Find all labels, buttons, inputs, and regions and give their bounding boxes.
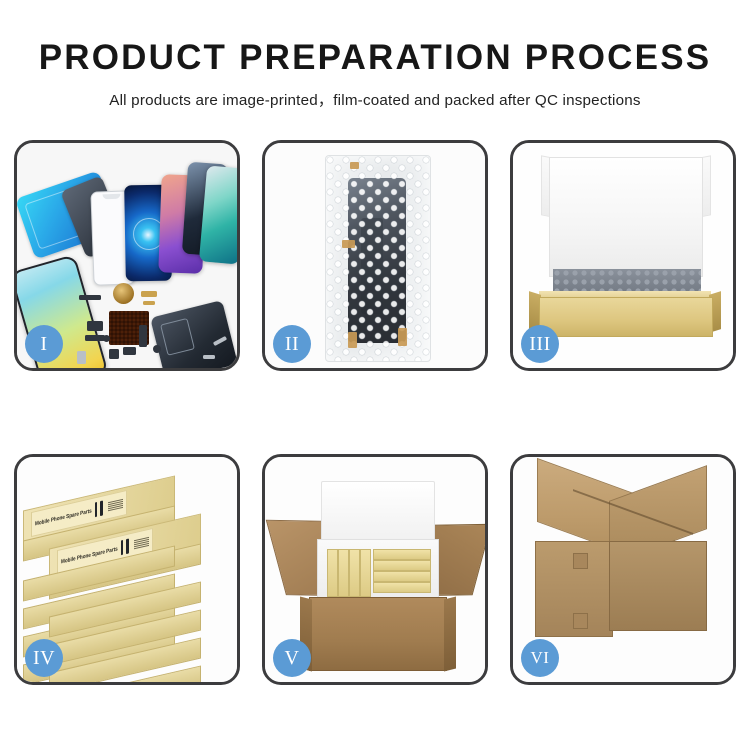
screw-icon	[203, 355, 215, 359]
yellow-box-item	[373, 560, 431, 571]
spec-lines	[108, 499, 123, 511]
component-icon	[77, 351, 86, 364]
yellow-box-item	[327, 549, 338, 597]
bubble-wrap-bag-image: II	[265, 143, 485, 368]
bubble-wrap-bag-icon	[325, 155, 431, 362]
component-icon	[109, 349, 119, 359]
component-icon	[141, 291, 157, 297]
component-icon	[87, 321, 103, 331]
process-step-2: II	[262, 140, 488, 371]
yellow-box-item	[373, 571, 431, 582]
tape-icon	[348, 332, 357, 348]
component-icon	[143, 301, 155, 305]
yellow-box-item	[338, 549, 349, 597]
process-step-6: VI	[510, 454, 736, 685]
carton-body	[309, 597, 447, 671]
carton-right-face	[609, 541, 707, 631]
yellow-box-item	[360, 549, 371, 597]
step-badge-5: V	[273, 639, 311, 677]
phone-back-housing-icon	[150, 300, 237, 368]
carton-tape-icon	[573, 613, 588, 629]
step-badge-3: III	[521, 325, 559, 363]
speaker-coil-icon	[113, 283, 134, 304]
process-step-grid: I II	[14, 140, 736, 685]
component-icon	[79, 295, 101, 300]
box-label-text: Mobile Phone Spare Parts	[35, 507, 92, 526]
bubble-texture	[326, 156, 430, 361]
phone-thumbnail-icon	[95, 502, 98, 518]
flex-cable-icon	[139, 325, 147, 347]
step-badge-1: I	[25, 325, 63, 363]
spec-lines	[134, 537, 149, 549]
phone-thumbnail-icon	[126, 538, 129, 554]
header: PRODUCT PREPARATION PROCESS All products…	[0, 0, 750, 110]
tape-icon	[342, 240, 355, 248]
process-step-5: V	[262, 454, 488, 685]
page-subtitle: All products are image-printed，film-coat…	[0, 88, 750, 110]
process-step-1: I	[14, 140, 240, 371]
component-icon	[123, 347, 136, 355]
step-badge-2: II	[273, 325, 311, 363]
carton-with-foam-image: V	[265, 457, 485, 682]
sealed-carton-image: VI	[513, 457, 733, 682]
yellow-box-item	[373, 582, 431, 593]
tape-icon	[398, 328, 407, 346]
parts-collage-image: I	[17, 143, 237, 368]
tape-icon	[350, 162, 359, 169]
page-title: PRODUCT PREPARATION PROCESS	[0, 40, 750, 77]
stacked-boxes-image: Mobile Phone Spare Parts Mobile Phone Sp…	[17, 457, 237, 682]
step-badge-4: IV	[25, 639, 63, 677]
process-step-4: Mobile Phone Spare Parts Mobile Phone Sp…	[14, 454, 240, 685]
process-step-3: III	[510, 140, 736, 371]
phone-thumbnail-icon	[121, 540, 124, 556]
product-preparation-infographic: PRODUCT PREPARATION PROCESS All products…	[0, 0, 750, 750]
styrofoam-lid-icon	[321, 481, 435, 545]
phone-thumbnail-icon	[100, 500, 103, 516]
component-icon	[85, 335, 105, 341]
open-yellow-box-image: III	[513, 143, 733, 368]
carton-tape-icon	[573, 553, 588, 569]
step-badge-6: VI	[521, 639, 559, 677]
yellow-box-front	[539, 297, 713, 337]
yellow-box-item	[373, 549, 431, 560]
component-icon	[103, 335, 110, 342]
foam-lid-icon	[549, 157, 703, 277]
component-icon	[153, 345, 161, 353]
yellow-box-item	[349, 549, 360, 597]
